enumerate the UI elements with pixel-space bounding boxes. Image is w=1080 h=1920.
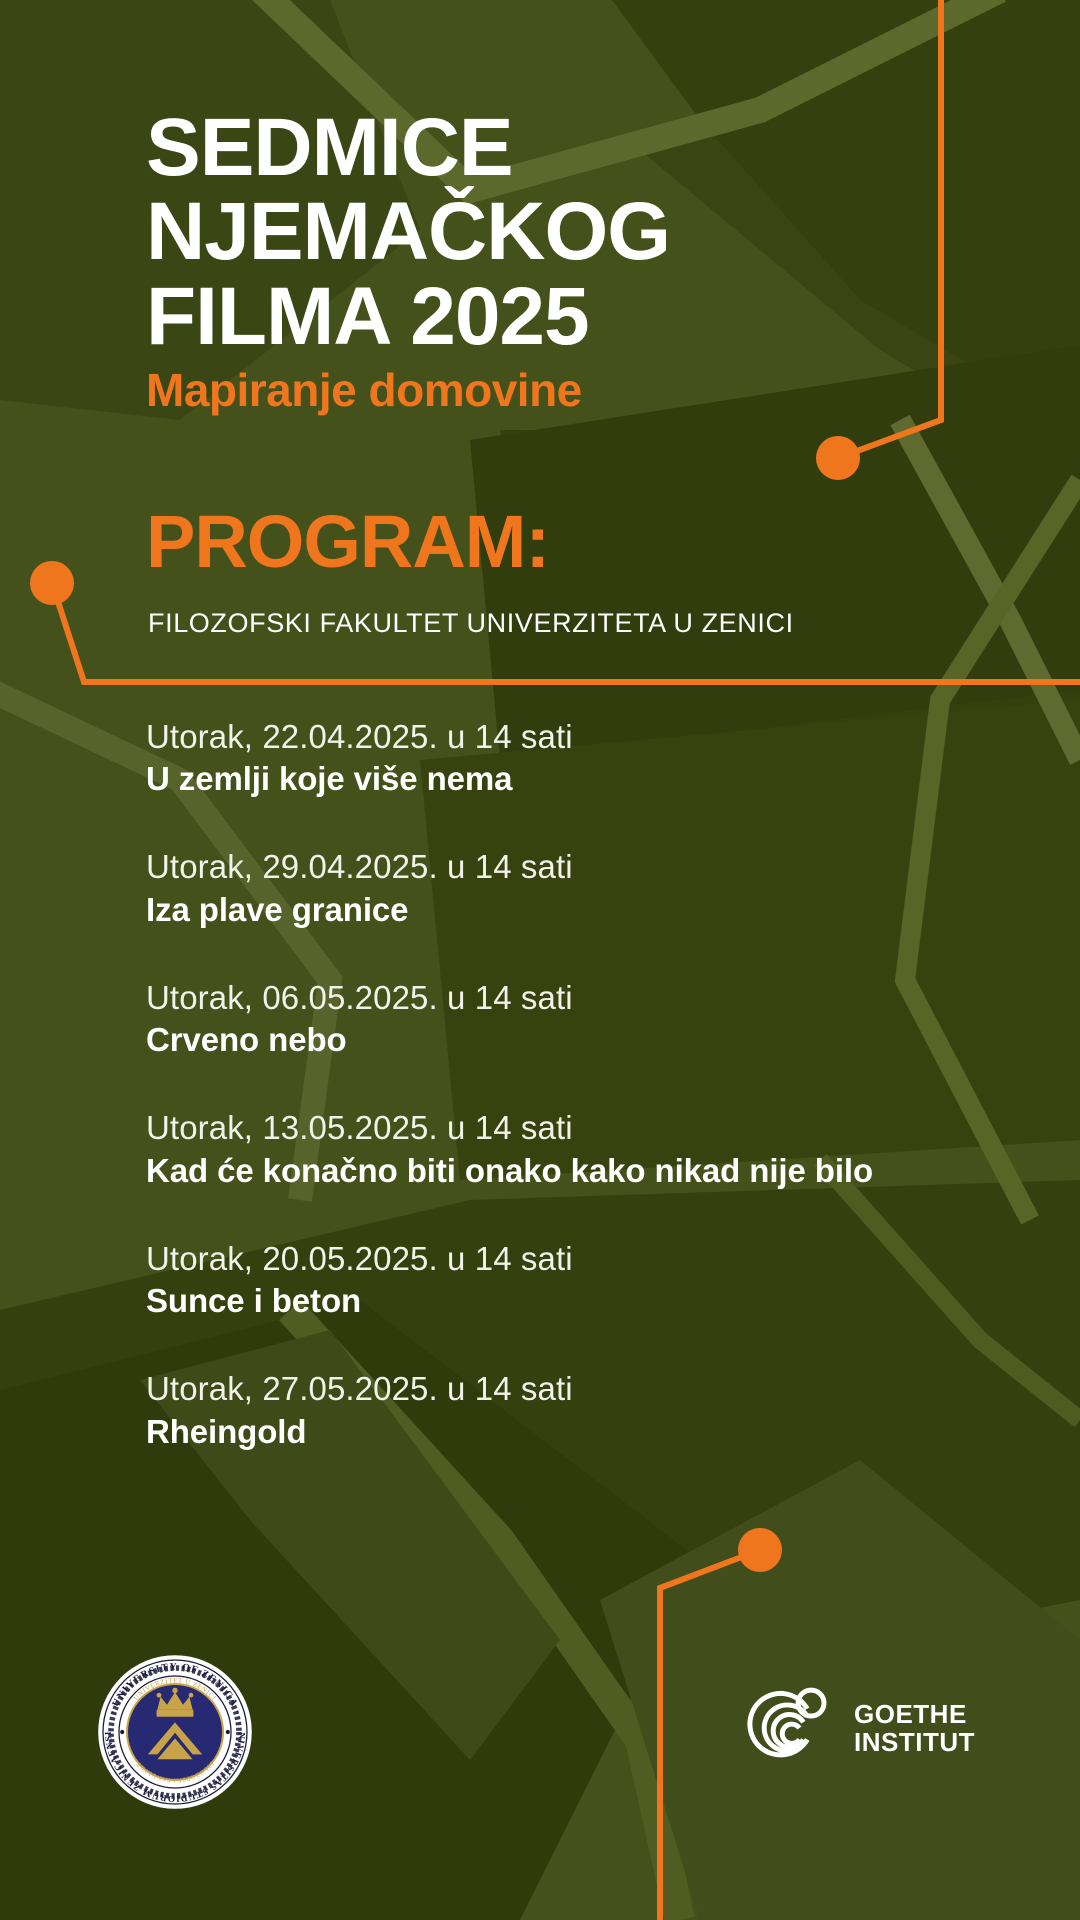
goethe-wordmark: GOETHE INSTITUT: [854, 1700, 975, 1756]
entry-title: Kad će konačno biti onako kako nikad nij…: [146, 1150, 1026, 1191]
entry-date: Utorak, 13.05.2025. u 14 sati: [146, 1107, 1026, 1149]
entry-date: Utorak, 29.04.2025. u 14 sati: [146, 846, 1026, 888]
goethe-institut-logo: GOETHE INSTITUT: [740, 1680, 975, 1776]
venue-label: FILOZOFSKI FAKULTET UNIVERZITETA U ZENIC…: [148, 609, 794, 639]
entry-date: Utorak, 27.05.2025. u 14 sati: [146, 1368, 1026, 1410]
schedule-list: Utorak, 22.04.2025. u 14 sati U zemlji k…: [146, 716, 1026, 1452]
headline-block: SEDMICE NJEMAČKOG FILMA 2025 Mapiranje d…: [146, 108, 1006, 413]
schedule-entry: Utorak, 13.05.2025. u 14 sati Kad će kon…: [146, 1107, 1026, 1190]
schedule-entry: Utorak, 22.04.2025. u 14 sati U zemlji k…: [146, 716, 1026, 799]
entry-title: Sunce i beton: [146, 1280, 1026, 1321]
entry-date: Utorak, 20.05.2025. u 14 sati: [146, 1238, 1026, 1280]
title-line-1: SEDMICE: [146, 108, 1006, 188]
entry-title: Crveno nebo: [146, 1019, 1026, 1060]
entry-title: U zemlji koje više nema: [146, 758, 1026, 799]
entry-title: Iza plave granice: [146, 889, 1026, 930]
goethe-spiral-icon: [740, 1680, 836, 1776]
schedule-entry: Utorak, 29.04.2025. u 14 sati Iza plave …: [146, 846, 1026, 929]
title-line-2: NJEMAČKOG: [146, 192, 1006, 272]
schedule-entry: Utorak, 06.05.2025. u 14 sati Crveno neb…: [146, 977, 1026, 1060]
entry-title: Rheingold: [146, 1411, 1026, 1452]
program-heading: PROGRAM:: [146, 505, 549, 579]
poster-canvas: SEDMICE NJEMAČKOG FILMA 2025 Mapiranje d…: [0, 0, 1080, 1920]
schedule-entry: Utorak, 20.05.2025. u 14 sati Sunce i be…: [146, 1238, 1026, 1321]
goethe-line-1: GOETHE: [854, 1700, 975, 1728]
festival-subtitle: Mapiranje domovine: [146, 367, 1006, 413]
goethe-line-2: INSTITUT: [854, 1728, 975, 1756]
schedule-entry: Utorak, 27.05.2025. u 14 sati Rheingold: [146, 1368, 1026, 1451]
title-line-3: FILMA 2025: [146, 277, 1006, 357]
entry-date: Utorak, 22.04.2025. u 14 sati: [146, 716, 1026, 758]
entry-date: Utorak, 06.05.2025. u 14 sati: [146, 977, 1026, 1019]
university-of-zenica-logo: · UNIVERSITY OF ZENICA · UNIVERSITAS STU…: [95, 1652, 255, 1812]
